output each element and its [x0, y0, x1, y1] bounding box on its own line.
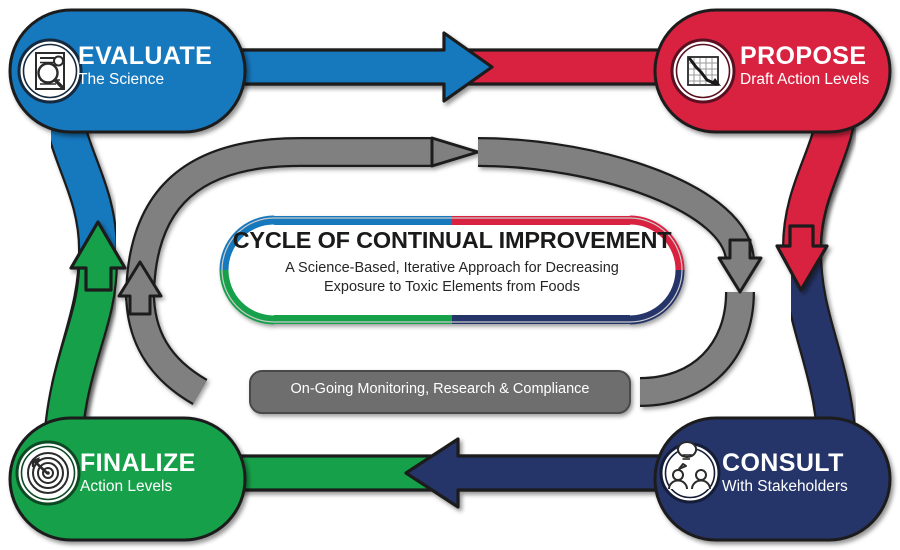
stakeholders-people-icon: [661, 442, 719, 502]
declining-line-chart-icon: [672, 40, 734, 102]
connector-consult-to-finalize: [222, 439, 678, 507]
center-pill: [222, 218, 682, 322]
document-magnifier-icon: [19, 40, 81, 102]
connector-evaluate-to-propose: [230, 33, 680, 101]
target-bullseye-icon: [17, 442, 79, 504]
monitoring-label-pill: [250, 371, 630, 413]
cycle-diagram-graphic: [0, 0, 900, 550]
diagram-canvas: EVALUATE The Science PROPOSE Draft Actio…: [0, 0, 900, 550]
